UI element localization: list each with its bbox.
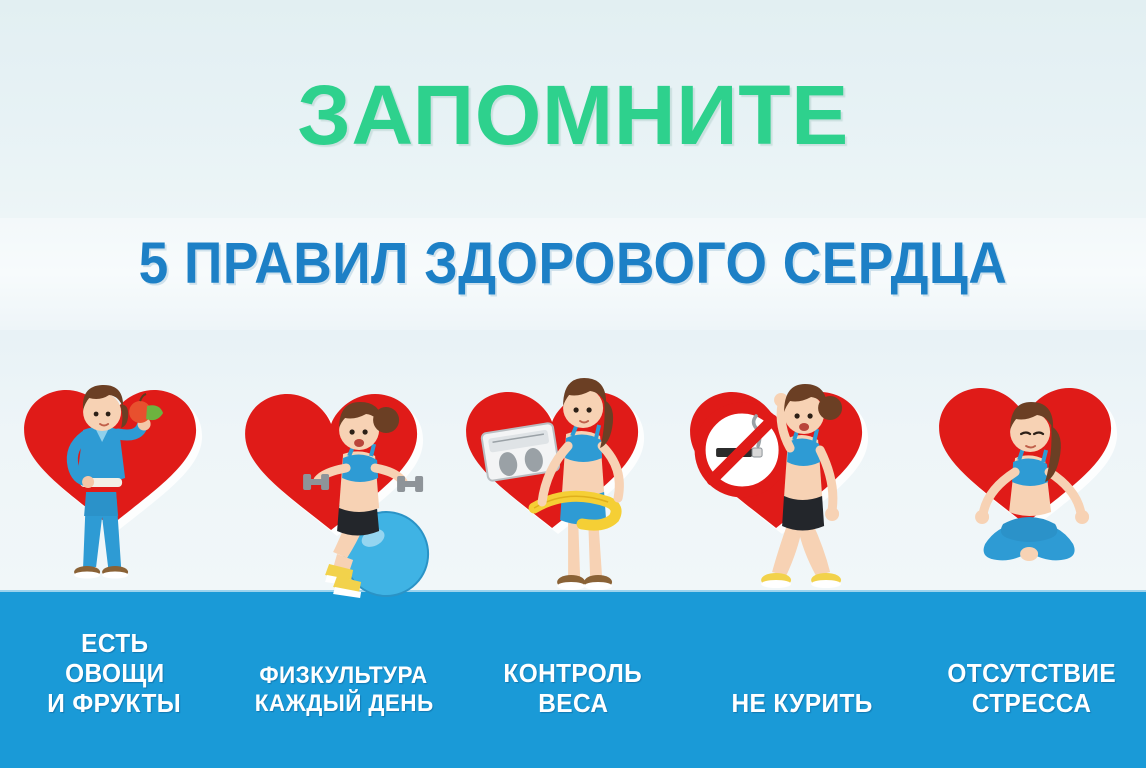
rule-caption-1: ЕСТЬ ОВОЩИ И ФРУКТЫ xyxy=(0,620,229,740)
no-smoking-sign xyxy=(700,408,784,492)
caption-line: СТРЕССА xyxy=(972,688,1092,718)
caption-line: КАЖДЫЙ ДЕНЬ xyxy=(254,690,433,718)
woman-with-no-smoking-sign-in-heart-icon xyxy=(688,372,917,622)
caption-line: ОТСУТСТВИЕ xyxy=(947,658,1116,688)
illustration-row xyxy=(0,372,1146,622)
rule-illustration-1 xyxy=(0,372,229,622)
caption-line: ОВОЩИ xyxy=(65,658,164,688)
rule-caption-4: НЕ КУРИТЬ xyxy=(688,620,917,740)
woman-holding-fruit-in-heart-icon xyxy=(0,372,229,622)
rule-caption-3: КОНТРОЛЬ ВЕСА xyxy=(458,620,687,740)
woman-with-measuring-tape-and-scales-in-heart-icon xyxy=(458,372,687,622)
rule-illustration-3 xyxy=(458,372,687,622)
woman-on-exercise-ball-with-dumbbells-in-heart-icon xyxy=(229,372,458,622)
caption-line: НЕ КУРИТЬ xyxy=(732,688,873,718)
rule-illustration-4 xyxy=(688,372,917,622)
page-title: ЗАПОМНИТЕ xyxy=(0,70,1146,160)
caption-row: ЕСТЬ ОВОЩИ И ФРУКТЫ ФИЗКУЛЬТУРА КАЖДЫЙ Д… xyxy=(0,620,1146,740)
caption-line: ВЕСА xyxy=(538,688,608,718)
rule-caption-2: ФИЗКУЛЬТУРА КАЖДЫЙ ДЕНЬ xyxy=(229,620,458,740)
caption-line: ЕСТЬ xyxy=(81,628,148,658)
caption-line: ФИЗКУЛЬТУРА xyxy=(260,662,428,690)
poster-root: ЗАПОМНИТЕ 5 ПРАВИЛ ЗДОРОВОГО СЕРДЦА xyxy=(0,0,1146,768)
rule-illustration-2 xyxy=(229,372,458,622)
woman-meditating-in-heart-icon xyxy=(917,372,1146,622)
caption-line: КОНТРОЛЬ xyxy=(504,658,643,688)
rule-caption-5: ОТСУТСТВИЕ СТРЕССА xyxy=(917,620,1146,740)
rule-illustration-5 xyxy=(917,372,1146,622)
page-subtitle: 5 ПРАВИЛ ЗДОРОВОГО СЕРДЦА xyxy=(46,232,1100,296)
caption-line: И ФРУКТЫ xyxy=(48,688,182,718)
